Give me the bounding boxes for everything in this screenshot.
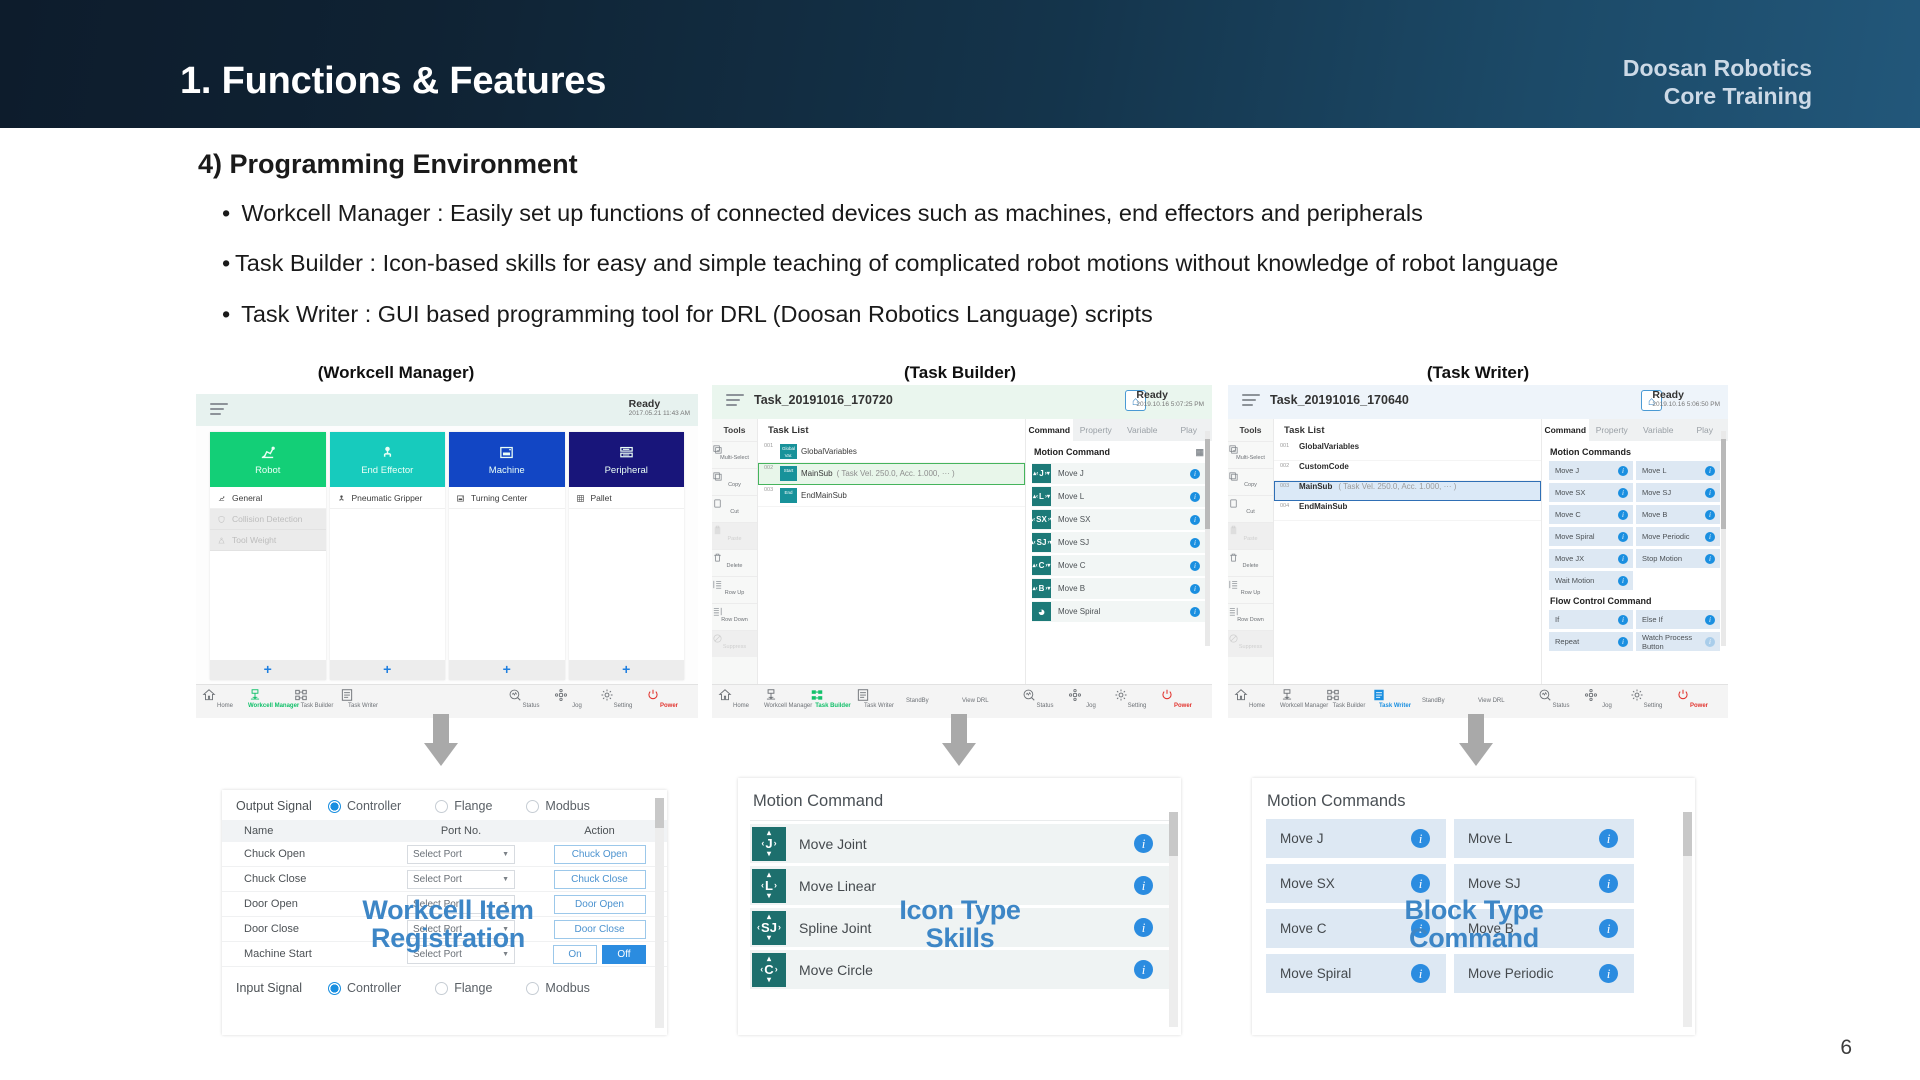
task-builder-body: Tools Multi-SelectCopyCutPasteDeleteRow … — [712, 419, 1212, 684]
motion-command-block[interactable]: Move Li — [1454, 819, 1634, 858]
radio-controller[interactable]: Controller — [328, 981, 401, 995]
tab-property[interactable]: Property — [1589, 419, 1636, 441]
task-list-row[interactable]: 002CustomCode — [1274, 461, 1541, 481]
input-signal-label: Input Signal — [236, 981, 328, 995]
hamburger-menu-icon[interactable] — [210, 403, 228, 416]
grid-view-icon[interactable]: ▦ — [1195, 447, 1204, 458]
info-icon[interactable]: i — [1190, 538, 1200, 548]
command-label: Move JX — [1549, 554, 1618, 563]
overlay-label-task-writer: Block Type Command — [1374, 896, 1574, 953]
flow-command-button[interactable]: Repeati — [1549, 632, 1633, 651]
command-label: Move SX — [1051, 515, 1190, 524]
workcell-list-item-label: Turning Center — [471, 493, 527, 503]
navbar-left: HomeWorkcell ManagerTask BuilderTask Wri… — [196, 685, 386, 709]
tool-multi-select[interactable]: Multi-Select — [712, 441, 757, 468]
workcell-manager-screenshot: Ready 2017.05.21 11:43 AM RobotGeneralCo… — [196, 394, 698, 718]
panel-scrollbar[interactable] — [1169, 812, 1178, 1027]
task-writer-screenshot: Task_20191016_170640 ⌂ Ready 2019.10.16 … — [1228, 385, 1728, 718]
command-glyph-move-joint-icon: ▴‹J›▾ — [752, 827, 786, 861]
navbar-item-task-writer[interactable]: Task Writer — [340, 685, 386, 709]
tool-label: Row Up — [712, 590, 757, 596]
navbar-item-task-writer[interactable]: Task Writer — [856, 685, 902, 709]
navbar-right: StatusJogSettingPower — [1538, 685, 1728, 709]
task-builder-screenshot: Task_20191016_170720 ⌂ Ready 2019.10.16 … — [712, 385, 1212, 718]
task-list-row[interactable]: 003MainSub( Task Vel. 250.0, Acc. 1.000,… — [1274, 481, 1541, 501]
action-button[interactable]: Door Close — [554, 920, 646, 939]
add-item-button[interactable]: + — [569, 660, 685, 680]
navbar-item-setting[interactable]: Setting — [1630, 685, 1676, 709]
task-list-row[interactable]: 004EndMainSub — [1274, 501, 1541, 521]
down-arrow-icon — [942, 714, 976, 766]
navbar-item-power[interactable]: Power — [1676, 685, 1722, 709]
radio-dot — [526, 800, 539, 813]
add-item-button[interactable]: + — [449, 660, 565, 680]
info-icon[interactable]: i — [1599, 829, 1618, 848]
motion-command-button[interactable]: Move Ci — [1549, 505, 1633, 524]
workcell-list-item-label: General — [232, 493, 262, 503]
task-list-panel: Task List 001GlobalVariables002CustomCod… — [1274, 419, 1542, 684]
info-icon[interactable]: i — [1618, 510, 1628, 520]
navbar-left: HomeWorkcell ManagerTask BuilderTask Wri… — [712, 685, 902, 709]
tool-label: Multi-Select — [1228, 455, 1273, 461]
info-icon[interactable]: i — [1134, 834, 1153, 853]
tools-list: Multi-SelectCopyCutPasteDeleteRow UpRow … — [1228, 441, 1273, 657]
info-icon[interactable]: i — [1705, 466, 1715, 476]
input-signal-row: Input Signal ControllerFlangeModbus — [222, 967, 667, 1002]
radio-dot — [435, 982, 448, 995]
status-block: Ready 2019.10.16 5:06:50 PM — [1652, 390, 1720, 408]
blocks-icon — [294, 688, 340, 702]
suppress-icon — [712, 633, 757, 644]
home-icon — [1234, 688, 1280, 702]
navbar-item-home[interactable]: Home — [1234, 685, 1280, 709]
action-button[interactable]: Door Open — [554, 895, 646, 914]
status-label: Ready — [1652, 390, 1720, 401]
action-button[interactable]: On — [553, 945, 597, 964]
radio-label: Controller — [347, 981, 401, 995]
tool-delete[interactable]: Delete — [1228, 549, 1273, 576]
command-label: Watch Process Button — [1636, 633, 1705, 651]
command-section-title: Motion Command — [1034, 447, 1110, 457]
motion-command-button[interactable]: Stop Motioni — [1636, 549, 1720, 568]
tool-row-down[interactable]: Row Down — [712, 603, 757, 630]
action-button[interactable]: Chuck Close — [554, 870, 646, 889]
navbar-item-label: Status — [1538, 703, 1584, 709]
navbar-item-label: Setting — [1114, 703, 1160, 709]
navbar-extra-link[interactable]: StandBy — [906, 698, 962, 706]
tool-multi-select[interactable]: Multi-Select — [1228, 441, 1273, 468]
tool-row-up[interactable]: Row Up — [1228, 576, 1273, 603]
navbar-item-task-builder[interactable]: Task Builder — [294, 685, 340, 709]
tab-variable[interactable]: Variable — [1119, 419, 1166, 441]
jog-icon — [554, 688, 600, 702]
command-tabs: CommandPropertyVariablePlay — [1026, 419, 1212, 441]
signal-table-row: Chuck CloseSelect Port▼Chuck Close — [222, 867, 667, 892]
info-icon[interactable]: i — [1190, 561, 1200, 571]
tool-copy[interactable]: Copy — [712, 468, 757, 495]
info-icon[interactable]: i — [1134, 960, 1153, 979]
overlay-line-1: Icon Type — [860, 896, 1060, 924]
command-label: Move SX — [1549, 488, 1618, 497]
info-icon[interactable]: i — [1618, 576, 1628, 586]
info-icon[interactable]: i — [1705, 488, 1715, 498]
overlay-line-2: Command — [1374, 924, 1574, 952]
tool-row-up[interactable]: Row Up — [712, 576, 757, 603]
info-icon[interactable]: i — [1190, 515, 1200, 525]
tab-command[interactable]: Command — [1542, 419, 1589, 441]
workcell-list-item[interactable]: Pneumatic Gripper — [330, 488, 446, 509]
table-header: Name Port No. Action — [222, 820, 667, 842]
port-select-value: Select Port — [413, 874, 462, 885]
tool-label: Cut — [1228, 509, 1273, 515]
command-label: Move Spiral — [1266, 966, 1411, 981]
section-title: 4) Programming Environment — [198, 149, 578, 180]
document-icon — [340, 688, 386, 702]
navbar-item-label: Jog — [1068, 703, 1114, 709]
bullet-text: Task Builder : Icon-based skills for eas… — [235, 250, 1558, 276]
navbar-extra-link[interactable]: StandBy — [1422, 698, 1478, 706]
tool-suppress: Suppress — [1228, 630, 1273, 657]
radio-modbus[interactable]: Modbus — [526, 799, 589, 813]
navbar-item-task-builder[interactable]: Task Builder — [1326, 685, 1372, 709]
motion-command-row[interactable]: ◕Move Spirali — [1032, 601, 1206, 622]
row-down-icon — [1228, 606, 1273, 617]
tab-variable[interactable]: Variable — [1635, 419, 1682, 441]
command-label: Move L — [1454, 831, 1599, 846]
workcell-list-item-label: Collision Detection — [232, 514, 302, 524]
motion-command-button[interactable]: Move SJi — [1636, 483, 1720, 502]
tool-suppress: Suppress — [712, 630, 757, 657]
tool-label: Row Up — [1228, 590, 1273, 596]
info-icon[interactable]: i — [1411, 964, 1430, 983]
motion-command-row[interactable]: ▴‹SJ›▾Move SJi — [1032, 532, 1206, 553]
info-icon[interactable]: i — [1411, 874, 1430, 893]
chevron-down-icon: ▼ — [502, 851, 509, 858]
command-label: Move B — [1636, 510, 1705, 519]
add-item-button[interactable]: + — [330, 660, 446, 680]
task-list-row[interactable]: 002StartMainSub( Task Vel. 250.0, Acc. 1… — [758, 463, 1025, 485]
slide-header: 1. Functions & Features Doosan Robotics … — [0, 0, 1920, 128]
command-label: Move SX — [1266, 876, 1411, 891]
motion-command-button[interactable]: Move Bi — [1636, 505, 1720, 524]
add-item-button[interactable]: + — [210, 660, 326, 680]
info-icon[interactable]: i — [1190, 584, 1200, 594]
tool-label: Suppress — [712, 644, 757, 650]
hamburger-menu-icon[interactable] — [1242, 394, 1260, 407]
tool-label: Suppress — [1228, 644, 1273, 650]
device-titlebar: Task_20191016_170640 ⌂ Ready 2019.10.16 … — [1228, 385, 1728, 419]
info-icon[interactable]: i — [1134, 876, 1153, 895]
brand-line-2: Core Training — [1623, 82, 1812, 110]
workcell-list-item[interactable]: General — [210, 488, 326, 509]
command-label: Wait Motion — [1549, 576, 1618, 585]
flow-command-button[interactable]: Else Ifi — [1636, 610, 1720, 629]
command-label: Move J — [1266, 831, 1411, 846]
task-list-row[interactable]: 001GlobalVariables — [1274, 441, 1541, 461]
robot-icon — [217, 494, 226, 503]
document-filled-icon — [1372, 688, 1418, 702]
task-row-name: GlobalVariables — [1299, 441, 1359, 451]
motion-command-button[interactable]: Move Spirali — [1549, 527, 1633, 546]
info-icon[interactable]: i — [1618, 554, 1628, 564]
info-icon[interactable]: i — [1618, 637, 1628, 647]
navbar-item-power[interactable]: Power — [1160, 685, 1206, 709]
bullet-dot: • — [222, 301, 235, 328]
jog-icon — [1068, 688, 1114, 702]
navbar-extra-link[interactable]: View DRL — [1478, 698, 1534, 706]
command-label: Move J — [1051, 469, 1190, 478]
info-icon[interactable]: i — [1599, 874, 1618, 893]
command-label: Move SJ — [1454, 876, 1599, 891]
page-number: 6 — [1840, 1036, 1852, 1060]
info-icon[interactable]: i — [1190, 492, 1200, 502]
bullet-text: Task Writer : GUI based programming tool… — [241, 301, 1153, 327]
motion-command-button[interactable]: Move Li — [1636, 461, 1720, 480]
info-icon[interactable]: i — [1190, 469, 1200, 479]
navbar-item-home[interactable]: Home — [718, 685, 764, 709]
motion-command-block[interactable]: Move Periodici — [1454, 954, 1634, 993]
navbar-item-power[interactable]: Power — [646, 685, 692, 709]
overlay-line-2: Skills — [860, 924, 1060, 952]
row-down-icon — [712, 606, 757, 617]
tool-copy[interactable]: Copy — [1228, 468, 1273, 495]
tool-paste: Paste — [1228, 522, 1273, 549]
info-icon[interactable]: i — [1618, 615, 1628, 625]
navbar-item-label: Workcell Manager — [1280, 703, 1326, 709]
home-icon — [718, 688, 764, 702]
task-list-row[interactable]: 003EndEndMainSub — [758, 485, 1025, 507]
motion-command-row[interactable]: ▴‹L›▾Move Li — [1032, 486, 1206, 507]
motion-command-button[interactable]: Move Periodici — [1636, 527, 1720, 546]
motion-command-row[interactable]: ▴‹J›▾Move Jointi — [750, 824, 1169, 863]
motion-command-row[interactable]: ▴‹C›▾Move Ci — [1032, 555, 1206, 576]
command-panel: CommandPropertyVariablePlay Motion Comma… — [1542, 419, 1728, 684]
tool-row-down[interactable]: Row Down — [1228, 603, 1273, 630]
navbar-item-task-builder[interactable]: Task Builder — [810, 685, 856, 709]
command-glyph-move-c-icon: ▴‹C›▾ — [1032, 556, 1051, 575]
tool-cut[interactable]: Cut — [712, 495, 757, 522]
task-list-panel: Task List 001Global Var.GlobalVariables0… — [758, 419, 1026, 684]
info-icon[interactable]: i — [1705, 615, 1715, 625]
motion-command-button[interactable]: Move Ji — [1549, 461, 1633, 480]
gear-icon — [600, 688, 646, 702]
navbar-item-label: Task Writer — [340, 703, 386, 709]
navbar-item-setting[interactable]: Setting — [600, 685, 646, 709]
navbar-item-label: Home — [718, 703, 764, 709]
navbar-item-jog[interactable]: Jog — [1068, 685, 1114, 709]
workcell-tile-robot[interactable]: Robot — [210, 432, 326, 487]
command-glyph-move-spiral-icon: ◕ — [1032, 602, 1051, 621]
task-row-name: EndMainSub — [801, 491, 847, 500]
tab-property[interactable]: Property — [1073, 419, 1120, 441]
panel-scrollbar[interactable] — [1683, 812, 1692, 1027]
info-icon[interactable]: i — [1599, 919, 1618, 938]
command-rows: ▴‹J›▾Move Ji▴‹L›▾Move Li▴‹SX›▾Move SXi▴‹… — [1026, 463, 1212, 622]
panel-header: Motion Command — [738, 778, 1181, 820]
command-label: Move Spiral — [1051, 607, 1190, 616]
command-scrollbar[interactable] — [1205, 431, 1210, 646]
port-select[interactable]: Select Port▼ — [407, 845, 515, 864]
power-icon — [1676, 688, 1722, 702]
workcell-tile-machine[interactable]: Machine — [449, 432, 565, 487]
navbar-item-label: Workcell Manager — [764, 703, 810, 709]
radio-modbus[interactable]: Modbus — [526, 981, 589, 995]
navbar-item-jog[interactable]: Jog — [554, 685, 600, 709]
action-cell: Chuck Close — [532, 870, 667, 889]
info-icon[interactable]: i — [1618, 532, 1628, 542]
info-icon[interactable]: i — [1705, 510, 1715, 520]
command-label: Move B — [1051, 584, 1190, 593]
task-row-name: CustomCode — [1299, 461, 1349, 471]
task-row-chip: Start — [780, 466, 797, 481]
info-icon[interactable]: i — [1190, 607, 1200, 617]
navbar-item-home[interactable]: Home — [202, 685, 248, 709]
radio-controller[interactable]: Controller — [328, 799, 401, 813]
port-select[interactable]: Select Port▼ — [407, 870, 515, 889]
navbar-item-label: Status — [508, 703, 554, 709]
motion-command-row[interactable]: ▴‹C›▾Move Circlei — [750, 950, 1169, 989]
paste-icon — [1228, 525, 1273, 536]
navbar-item-label: Task Builder — [1326, 703, 1372, 709]
brand-line-1: Doosan Robotics — [1623, 54, 1812, 82]
action-button[interactable]: Off — [602, 945, 646, 964]
navbar-item-workcell-manager[interactable]: Workcell Manager — [248, 685, 294, 709]
motion-section-header: Motion Commands — [1542, 441, 1728, 461]
workcell-item-list: Turning Center — [449, 487, 565, 660]
radio-label: Modbus — [545, 799, 589, 813]
motion-command-row[interactable]: ▴‹B›▾Move Bi — [1032, 578, 1206, 599]
col-action: Action — [532, 825, 667, 837]
motion-command-button[interactable]: Wait Motioni — [1549, 571, 1633, 590]
power-icon — [1160, 688, 1206, 702]
grid-icon — [576, 494, 585, 503]
workcell-icon — [764, 688, 810, 702]
navbar-extra-link[interactable]: View DRL — [962, 698, 1018, 706]
action-button[interactable]: Chuck Open — [554, 845, 646, 864]
document-icon — [856, 688, 902, 702]
panel-scrollbar[interactable] — [655, 798, 664, 1028]
navbar-item-status[interactable]: Status — [1022, 685, 1068, 709]
caption-task-writer: (Task Writer) — [1378, 363, 1578, 383]
pallet-icon — [618, 444, 635, 461]
navbar-item-label: Home — [202, 703, 248, 709]
command-scrollbar[interactable] — [1721, 431, 1726, 646]
motion-command-block[interactable]: Move Ji — [1266, 819, 1446, 858]
navbar-item-label: Task Builder — [294, 703, 340, 709]
copy-icon — [712, 471, 757, 482]
window-title: Task_20191016_170720 — [754, 393, 893, 407]
tool-cut[interactable]: Cut — [1228, 495, 1273, 522]
workcell-list-item[interactable]: Pallet — [569, 488, 685, 509]
task-writer-body: Tools Multi-SelectCopyCutPasteDeleteRow … — [1228, 419, 1728, 684]
status-label: Ready — [629, 399, 690, 410]
command-label: Move Periodic — [1454, 966, 1599, 981]
workcell-tile-end-effector[interactable]: End Effector — [330, 432, 446, 487]
info-icon[interactable]: i — [1618, 466, 1628, 476]
navbar-item-status[interactable]: Status — [508, 685, 554, 709]
tab-command[interactable]: Command — [1026, 419, 1073, 441]
workcell-tile-label: Peripheral — [605, 465, 648, 476]
flow-command-button[interactable]: Ifi — [1549, 610, 1633, 629]
navbar-item-status[interactable]: Status — [1538, 685, 1584, 709]
info-icon[interactable]: i — [1705, 532, 1715, 542]
navbar-item-workcell-manager[interactable]: Workcell Manager — [764, 685, 810, 709]
workcell-manager-body: RobotGeneralCollision DetectionTool Weig… — [196, 426, 698, 684]
workcell-tile-peripheral[interactable]: Peripheral — [569, 432, 685, 487]
workcell-icon — [1280, 688, 1326, 702]
workcell-column: RobotGeneralCollision DetectionTool Weig… — [210, 432, 326, 680]
task-list-header: Task List — [758, 419, 1025, 441]
status-timestamp: 2019.10.16 5:06:50 PM — [1652, 401, 1720, 408]
radio-label: Flange — [454, 981, 492, 995]
workcell-list-item: Collision Detection — [210, 509, 326, 530]
info-icon[interactable]: i — [1618, 488, 1628, 498]
status-timestamp: 2017.05.21 11:43 AM — [629, 410, 690, 417]
info-icon[interactable]: i — [1599, 964, 1618, 983]
task-row-name: MainSub — [1299, 481, 1332, 491]
task-list-row[interactable]: 001Global Var.GlobalVariables — [758, 441, 1025, 463]
command-tabs: CommandPropertyVariablePlay — [1542, 419, 1728, 441]
status-label: Ready — [1136, 390, 1204, 401]
motion-command-row[interactable]: ▴‹J›▾Move Ji — [1032, 463, 1206, 484]
navbar-item-label: Jog — [554, 703, 600, 709]
bullet-text: Workcell Manager : Easily set up functio… — [242, 200, 1423, 226]
task-row-name: GlobalVariables — [801, 447, 857, 456]
workcell-columns: RobotGeneralCollision DetectionTool Weig… — [210, 432, 684, 680]
info-icon[interactable]: i — [1705, 554, 1715, 564]
navbar-item-label: Power — [1160, 703, 1206, 709]
action-cell: Door Close — [532, 920, 667, 939]
motion-command-button[interactable]: Move JXi — [1549, 549, 1633, 568]
action-cell: Chuck Open — [532, 845, 667, 864]
command-glyph-move-circle-icon: ▴‹C›▾ — [752, 953, 786, 987]
navbar-item-task-writer[interactable]: Task Writer — [1372, 685, 1418, 709]
motion-command-button[interactable]: Move SXi — [1549, 483, 1633, 502]
navbar-item-jog[interactable]: Jog — [1584, 685, 1630, 709]
gear-icon — [1630, 688, 1676, 702]
workcell-list-item[interactable]: Turning Center — [449, 488, 565, 509]
hamburger-menu-icon[interactable] — [726, 394, 744, 407]
info-icon[interactable]: i — [1134, 918, 1153, 937]
workcell-item-list: Pneumatic Gripper — [330, 487, 446, 660]
tool-label: Copy — [1228, 482, 1273, 488]
flow-command-button[interactable]: Watch Process Buttoni — [1636, 632, 1720, 651]
task-row-number: 001 — [764, 441, 776, 449]
info-icon[interactable]: i — [1705, 637, 1715, 647]
radio-flange[interactable]: Flange — [435, 981, 492, 995]
command-glyph-move-sx-icon: ▴‹SX›▾ — [1032, 510, 1051, 529]
bullet-dot: • — [222, 200, 235, 227]
command-label: Move J — [1549, 466, 1618, 475]
device-titlebar: Ready 2017.05.21 11:43 AM — [196, 394, 698, 426]
motion-command-row[interactable]: ▴‹SX›▾Move SXi — [1032, 509, 1206, 530]
workcell-column: MachineTurning Center+ — [449, 432, 565, 680]
task-row-params: ( Task Vel. 250.0, Acc. 1.000, ··· ) — [1338, 481, 1456, 491]
command-label: Else If — [1636, 615, 1705, 624]
multi-select-icon — [712, 444, 757, 455]
command-label: Move Linear — [786, 878, 1134, 894]
motion-command-block[interactable]: Move Spirali — [1266, 954, 1446, 993]
down-arrow-icon — [424, 714, 458, 766]
navbar-item-setting[interactable]: Setting — [1114, 685, 1160, 709]
radio-flange[interactable]: Flange — [435, 799, 492, 813]
info-icon[interactable]: i — [1411, 829, 1430, 848]
workcell-item-list: Pallet — [569, 487, 685, 660]
command-label: Move C — [1051, 561, 1190, 570]
tool-delete[interactable]: Delete — [712, 549, 757, 576]
command-glyph-move-j-icon: ▴‹J›▾ — [1032, 464, 1051, 483]
navbar-item-workcell-manager[interactable]: Workcell Manager — [1280, 685, 1326, 709]
